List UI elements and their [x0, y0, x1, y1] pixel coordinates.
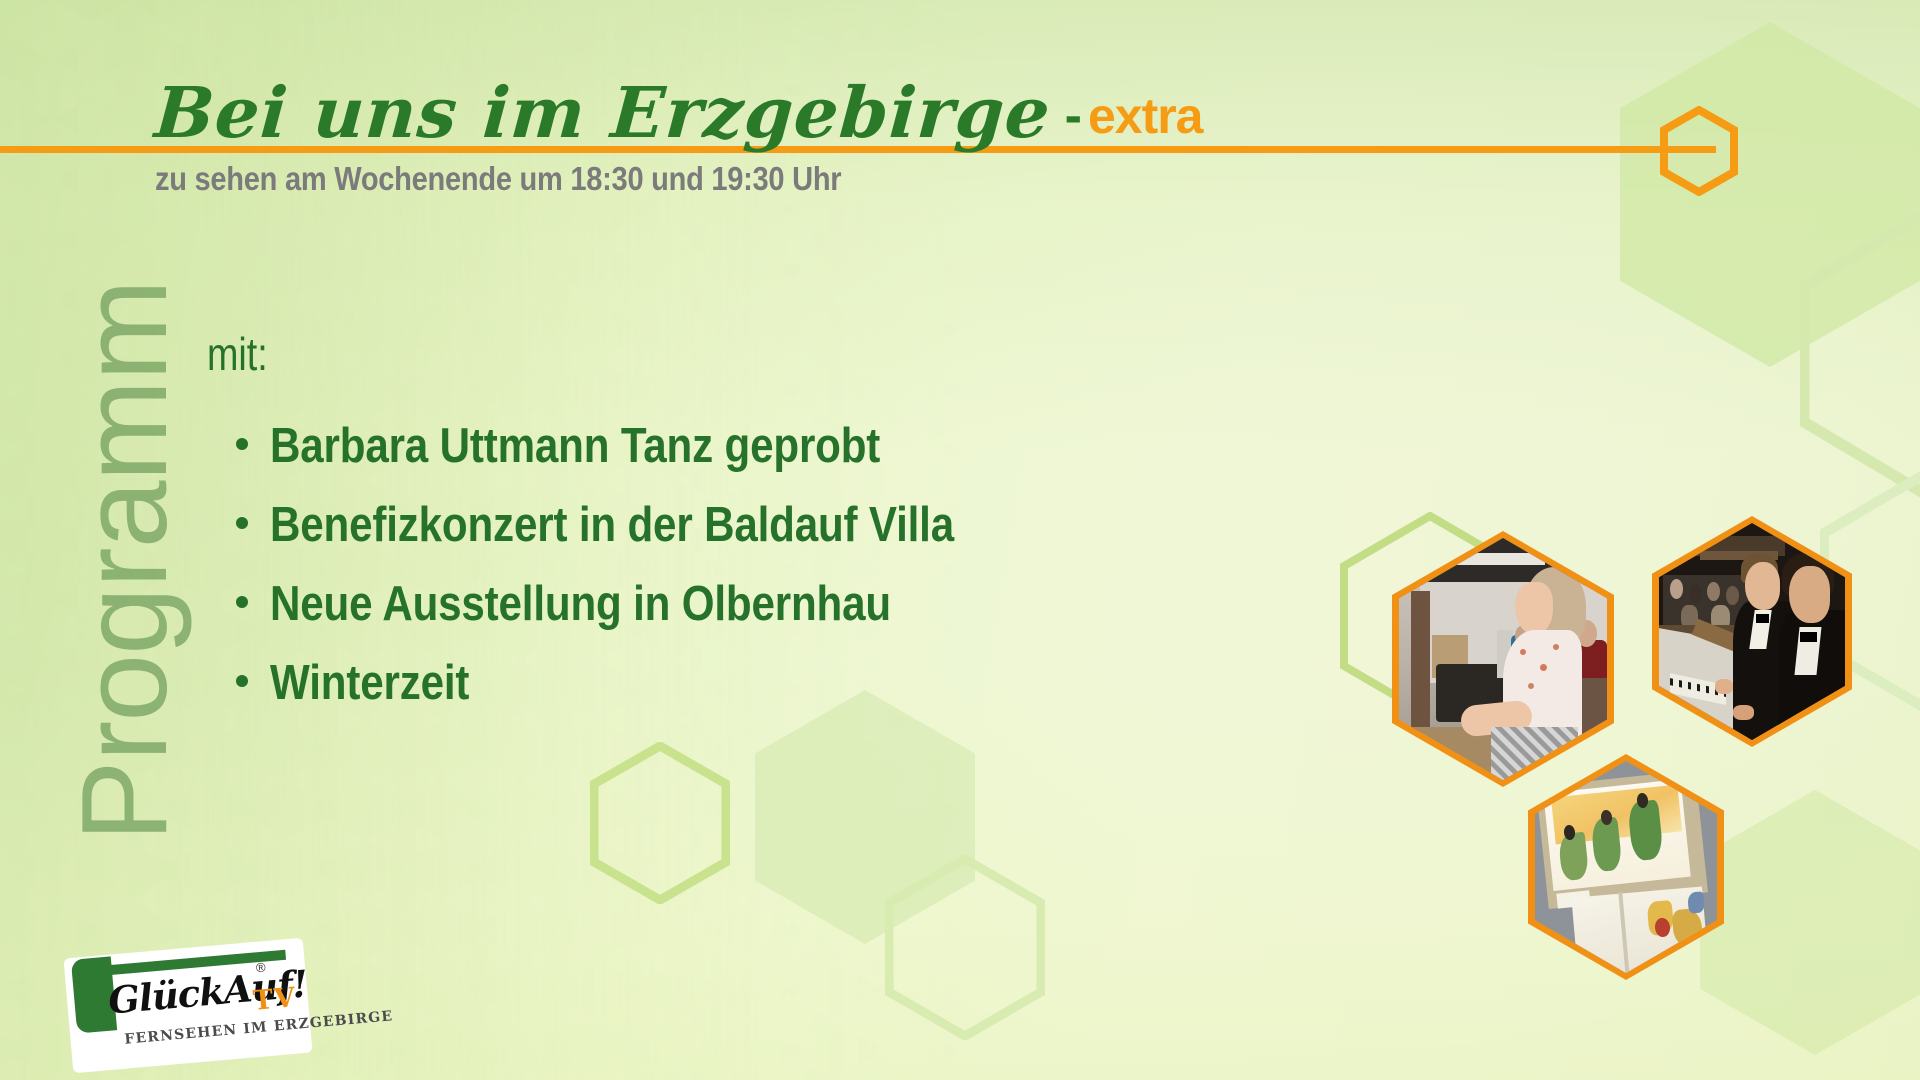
logo-tv-mark: TV — [252, 982, 298, 1017]
list-item: Barbara Uttmann Tanz geprobt — [236, 418, 1065, 497]
bullet-dot-icon — [236, 675, 248, 687]
glueckauf-tv-logo: GlückAuf! ® TV FERNSEHEN IM ERZGEBIRGE — [68, 948, 308, 1063]
list-item: Winterzeit — [236, 655, 1065, 734]
list-item-label: Winterzeit — [270, 655, 469, 711]
list-item-label: Barbara Uttmann Tanz geprobt — [270, 418, 880, 474]
bullet-dot-icon — [236, 596, 248, 608]
decor-hexagon-center-right-outline — [885, 855, 1045, 1040]
list-item-label: Neue Ausstellung in Olbernhau — [270, 576, 891, 632]
intro-label: mit: — [207, 327, 268, 381]
list-item: Benefizkonzert in der Baldauf Villa — [236, 497, 1065, 576]
page-title: Bei uns im Erzgebirge - extra — [155, 78, 1202, 150]
page-subtitle: zu sehen am Wochenende um 18:30 und 19:3… — [155, 160, 841, 198]
page-title-extra: extra — [1088, 87, 1203, 145]
broadcast-program-slide: Bei uns im Erzgebirge - extra zu sehen a… — [0, 0, 1920, 1080]
logo-registered-mark: ® — [255, 960, 266, 976]
list-item: Neue Ausstellung in Olbernhau — [236, 576, 1065, 655]
program-item-list: Barbara Uttmann Tanz geprobtBenefizkonze… — [236, 418, 1065, 734]
header-hexagon-accent-icon — [1660, 106, 1738, 196]
decor-hexagon-top-right-outline — [1800, 210, 1920, 498]
page-title-script: Bei uns im Erzgebirge — [153, 78, 1054, 148]
bullet-dot-icon — [236, 517, 248, 529]
decor-hexagon-center-outline — [590, 742, 730, 904]
list-item-label: Benefizkonzert in der Baldauf Villa — [270, 497, 954, 553]
bullet-dot-icon — [236, 438, 248, 450]
page-title-dash: - — [1051, 86, 1088, 146]
